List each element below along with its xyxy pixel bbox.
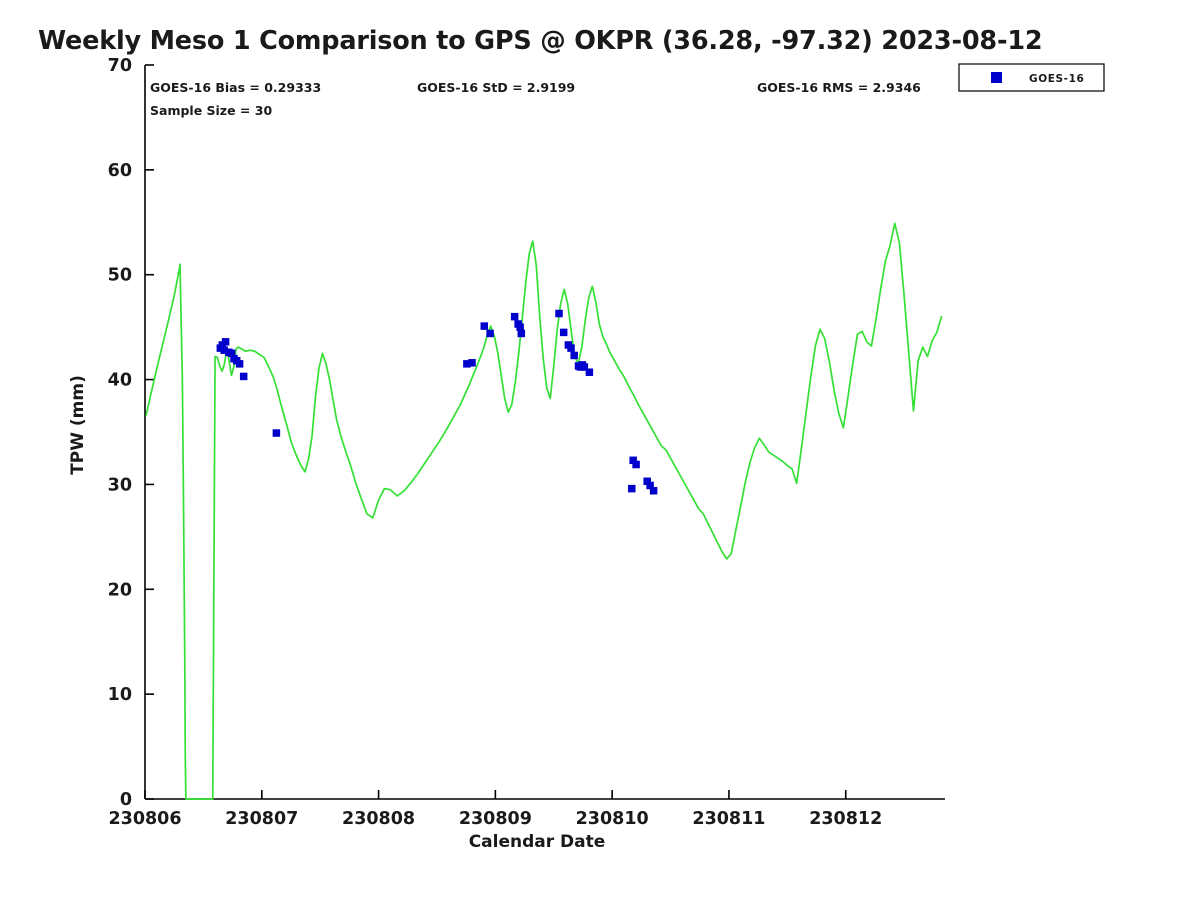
- y-tick-label: 30: [108, 475, 132, 495]
- goes16-data-point: [273, 429, 281, 437]
- x-axis-ticks: 2308062308072308082308092308102308112308…: [108, 790, 882, 829]
- goes16-data-point: [222, 338, 230, 346]
- goes16-data-point: [240, 373, 248, 381]
- legend[interactable]: GOES-16: [959, 64, 1104, 91]
- stat-sample-size: Sample Size = 30: [150, 103, 272, 118]
- goes16-data-point: [486, 330, 494, 338]
- stat-std: GOES-16 StD = 2.9199: [417, 80, 575, 95]
- plot-area: [146, 223, 941, 799]
- goes16-scatter-series: [217, 310, 658, 495]
- goes16-data-point: [650, 487, 658, 495]
- x-tick-label: 230812: [809, 809, 882, 829]
- x-axis-label: Calendar Date: [469, 832, 606, 852]
- x-tick-label: 230806: [108, 809, 181, 829]
- goes16-data-point: [632, 461, 640, 469]
- y-tick-label: 60: [108, 161, 132, 181]
- goes16-data-point: [468, 359, 476, 367]
- y-tick-label: 10: [108, 685, 132, 705]
- y-tick-label: 0: [120, 790, 132, 810]
- goes16-data-point: [518, 330, 526, 338]
- x-tick-label: 230811: [692, 809, 765, 829]
- tpw-timeseries-chart: 010203040506070 230806230807230808230809…: [0, 0, 1200, 900]
- x-tick-label: 230807: [225, 809, 298, 829]
- y-axis-ticks: 010203040506070: [108, 56, 154, 810]
- goes16-data-point: [586, 368, 594, 376]
- goes16-data-point: [560, 329, 568, 337]
- goes16-data-point: [628, 485, 636, 493]
- stat-rms: GOES-16 RMS = 2.9346: [757, 80, 921, 95]
- y-tick-label: 20: [108, 580, 132, 600]
- x-tick-label: 230809: [459, 809, 532, 829]
- goes16-data-point: [481, 322, 489, 330]
- y-tick-label: 70: [108, 56, 132, 76]
- axes: [145, 65, 945, 799]
- legend-label-goes16: GOES-16: [1029, 73, 1084, 85]
- stat-bias: GOES-16 Bias = 0.29333: [150, 80, 321, 95]
- y-axis-label: TPW (mm): [68, 375, 88, 475]
- goes16-data-point: [511, 313, 518, 321]
- x-tick-label: 230810: [576, 809, 649, 829]
- x-tick-label: 230808: [342, 809, 415, 829]
- goes16-data-point: [570, 352, 578, 360]
- chart-page: Weekly Meso 1 Comparison to GPS @ OKPR (…: [0, 0, 1200, 900]
- goes16-data-point: [555, 310, 563, 318]
- y-tick-label: 50: [108, 266, 132, 286]
- gps-line-series: [146, 223, 941, 799]
- y-tick-label: 40: [108, 371, 132, 391]
- legend-marker-goes16: [991, 72, 1002, 83]
- goes16-data-point: [236, 360, 244, 368]
- goes16-data-point: [567, 344, 575, 352]
